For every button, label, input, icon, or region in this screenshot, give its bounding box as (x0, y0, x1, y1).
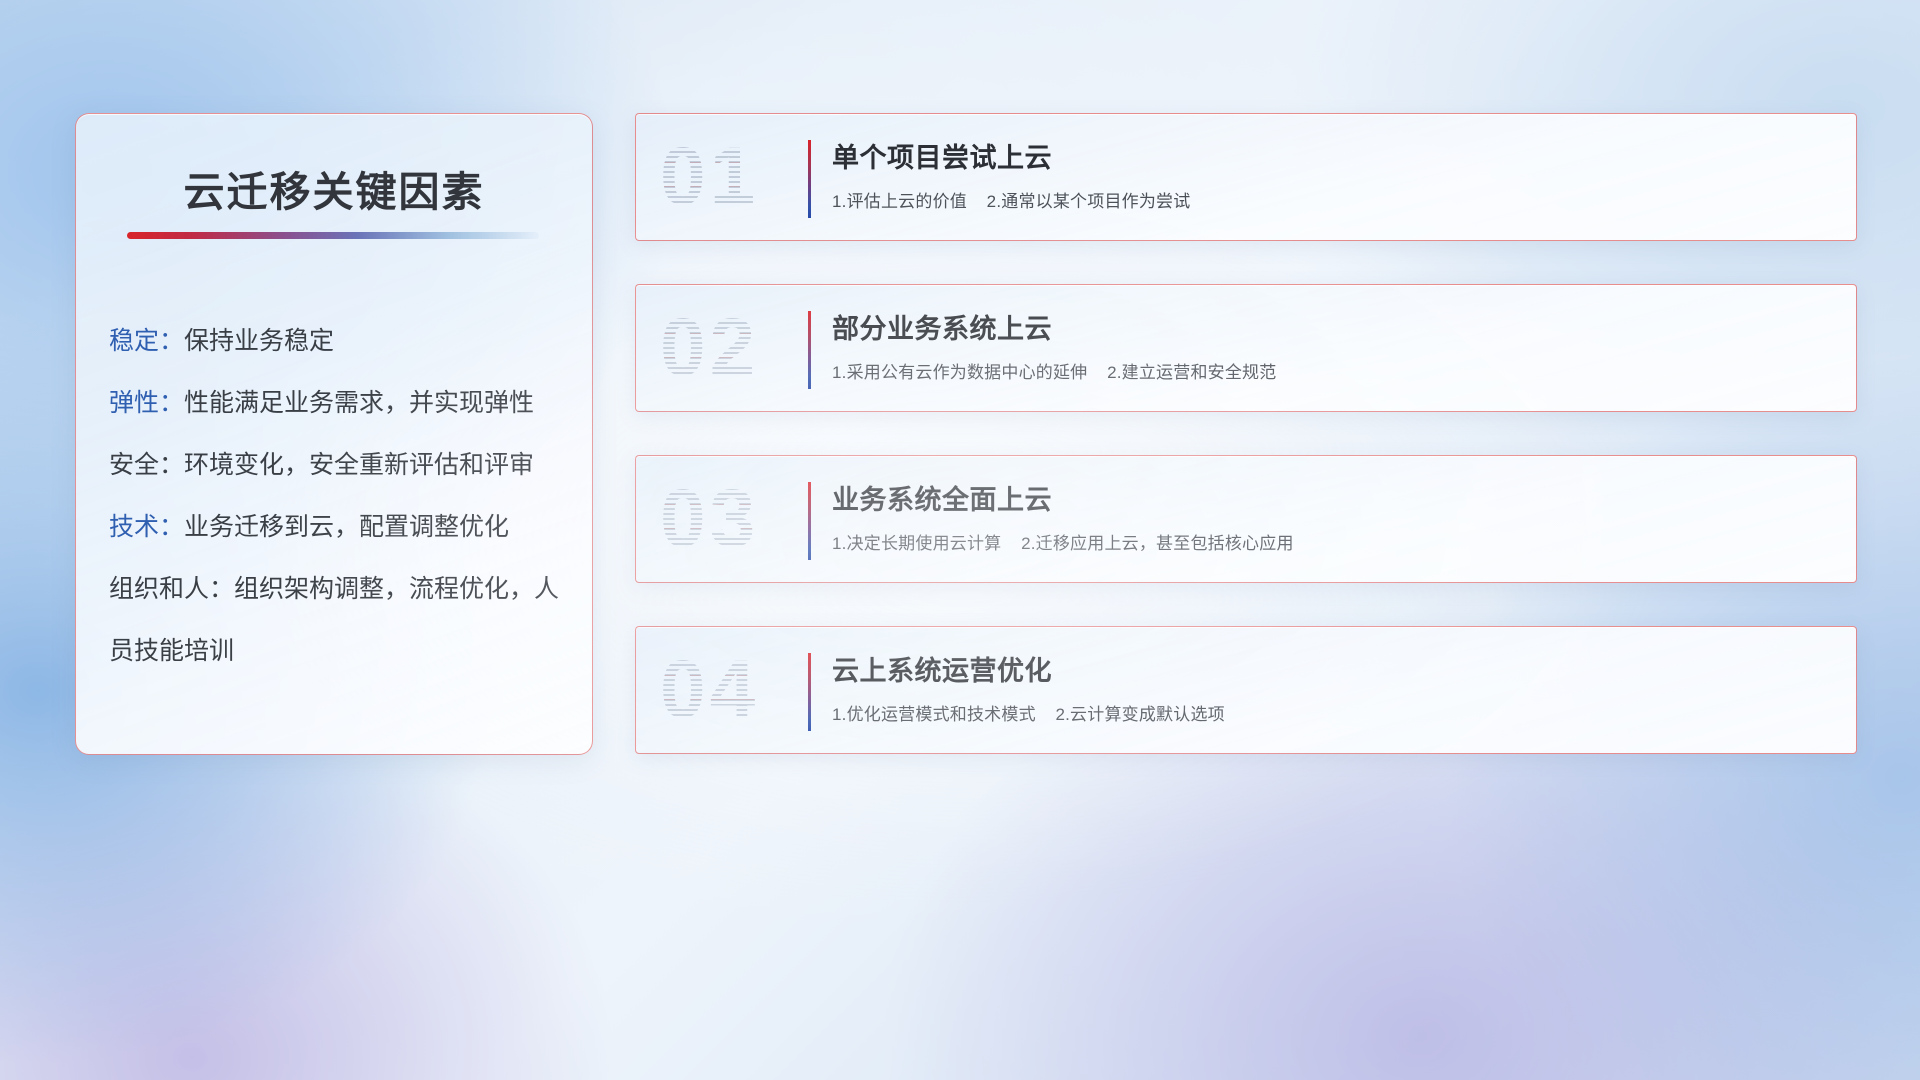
stage-card-04[interactable]: 04 04 云上系统运营优化 1.优化运营模式和技术模式 2.云计算变成默认选项 (635, 626, 1857, 754)
divider-bar-icon (808, 653, 811, 731)
factor-item-organization-and-people: 组织和人：组织架构调整，流程优化，人员技能培训 (109, 558, 574, 682)
stage-card-title: 业务系统全面上云 (832, 478, 1836, 517)
slide-canvas: 云迁移关键因素 稳定：保持业务稳定 弹性：性能满足业务需求，并实现弹性 安全：环… (0, 0, 1920, 1080)
factor-item-security: 安全：环境变化，安全重新评估和评审 (109, 434, 574, 496)
page-title: 云迁移关键因素 (76, 158, 592, 218)
factor-item-elasticity: 弹性：性能满足业务需求，并实现弹性 (109, 372, 574, 434)
factor-text: 环境变化，安全重新评估和评审 (184, 451, 534, 479)
factor-label: 稳定： (109, 327, 184, 355)
factor-text: 保持业务稳定 (184, 327, 334, 355)
stage-number-ghost-tint: 04 (660, 649, 759, 731)
stage-card-title: 部分业务系统上云 (832, 307, 1836, 346)
factor-text: 业务迁移到云，配置调整优化 (184, 513, 509, 541)
divider-bar-icon (808, 482, 811, 560)
stage-card-01[interactable]: 01 01 单个项目尝试上云 1.评估上云的价值 2.通常以某个项目作为尝试 (635, 113, 1857, 241)
key-factors-panel: 云迁移关键因素 稳定：保持业务稳定 弹性：性能满足业务需求，并实现弹性 安全：环… (75, 113, 593, 755)
stage-card-body: 单个项目尝试上云 1.评估上云的价值 2.通常以某个项目作为尝试 (832, 136, 1836, 212)
stage-card-body: 部分业务系统上云 1.采用公有云作为数据中心的延伸 2.建立运营和安全规范 (832, 307, 1836, 383)
factor-label: 组织和人： (109, 575, 234, 603)
divider-bar-icon (808, 140, 811, 218)
stage-card-body: 业务系统全面上云 1.决定长期使用云计算 2.迁移应用上云，甚至包括核心应用 (832, 478, 1836, 554)
factor-text: 性能满足业务需求，并实现弹性 (184, 389, 534, 417)
stage-card-title: 云上系统运营优化 (832, 649, 1836, 688)
stage-card-title: 单个项目尝试上云 (832, 136, 1836, 175)
stage-card-subtitle: 1.评估上云的价值 2.通常以某个项目作为尝试 (832, 187, 1836, 212)
divider-bar-icon (808, 311, 811, 389)
stage-card-body: 云上系统运营优化 1.优化运营模式和技术模式 2.云计算变成默认选项 (832, 649, 1836, 725)
stage-card-02[interactable]: 02 02 部分业务系统上云 1.采用公有云作为数据中心的延伸 2.建立运营和安… (635, 284, 1857, 412)
factor-label: 弹性： (109, 389, 184, 417)
stage-number-ghost-tint: 01 (660, 136, 759, 218)
factor-label: 技术： (109, 513, 184, 541)
stage-card-subtitle: 1.决定长期使用云计算 2.迁移应用上云，甚至包括核心应用 (832, 529, 1836, 554)
factor-label: 安全： (109, 451, 184, 479)
stage-card-subtitle: 1.采用公有云作为数据中心的延伸 2.建立运营和安全规范 (832, 358, 1836, 383)
stage-number-ghost-tint: 03 (660, 478, 759, 560)
title-underline-gradient (127, 232, 539, 239)
stage-card-03[interactable]: 03 03 业务系统全面上云 1.决定长期使用云计算 2.迁移应用上云，甚至包括… (635, 455, 1857, 583)
stage-card-list: 01 01 单个项目尝试上云 1.评估上云的价值 2.通常以某个项目作为尝试 0… (635, 113, 1857, 754)
factor-list: 稳定：保持业务稳定 弹性：性能满足业务需求，并实现弹性 安全：环境变化，安全重新… (109, 310, 574, 682)
stage-card-subtitle: 1.优化运营模式和技术模式 2.云计算变成默认选项 (832, 700, 1836, 725)
factor-item-stability: 稳定：保持业务稳定 (109, 310, 574, 372)
factor-item-technology: 技术：业务迁移到云，配置调整优化 (109, 496, 574, 558)
stage-number-ghost-tint: 02 (660, 307, 759, 389)
